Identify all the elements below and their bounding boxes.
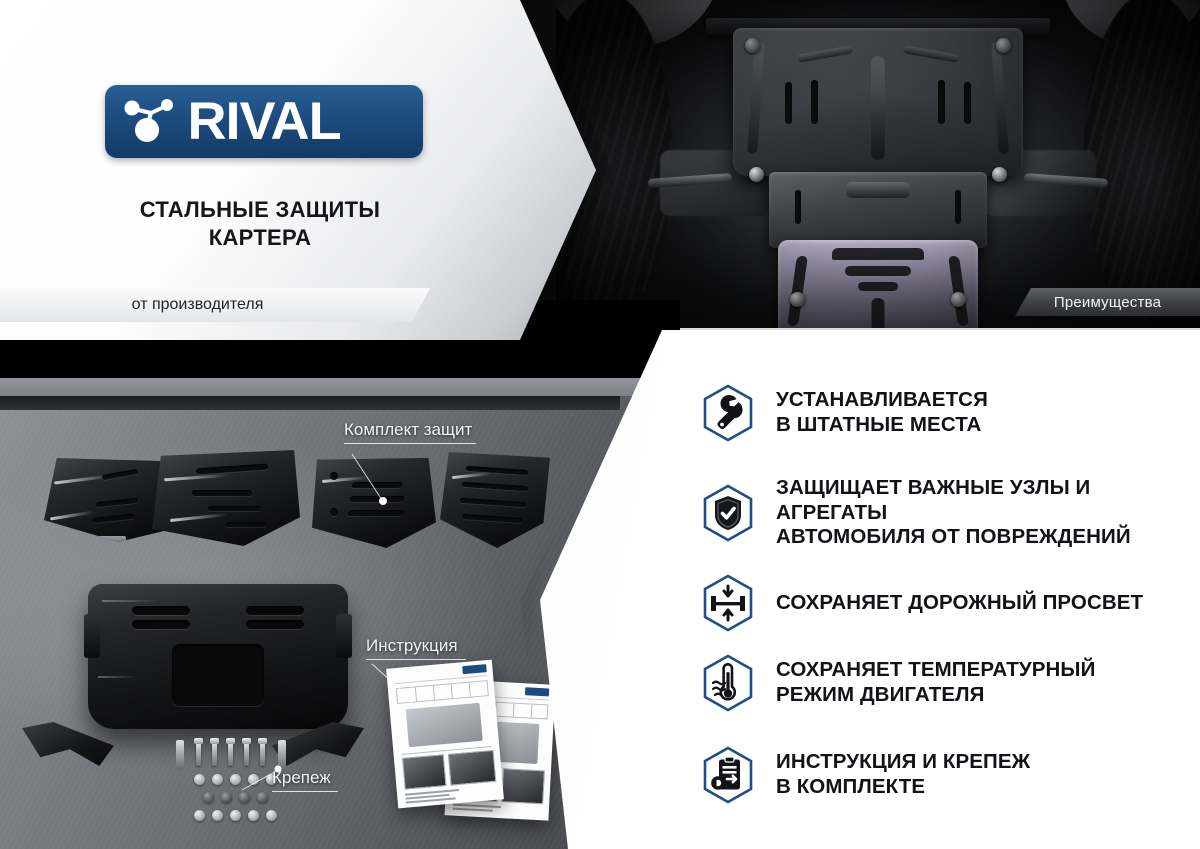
- page-title: СТАЛЬНЫЕ ЗАЩИТЫ КАРТЕРА: [0, 196, 520, 252]
- installed-rear-skid-plate: [778, 240, 978, 340]
- thermometer-icon: [702, 654, 754, 712]
- advantage-label-temperature: СОХРАНЯЕТ ТЕМПЕРАТУРНЫЙ РЕЖИМ ДВИГАТЕЛЯ: [776, 658, 1095, 707]
- advantage-label-installation: УСТАНАВЛИВАЕТСЯ В ШТАТНЫЕ МЕСТА: [776, 388, 988, 437]
- kit-callout-label: Комплект защит: [344, 420, 472, 439]
- kit-callout: Комплект защит: [344, 420, 476, 444]
- rival-logo-text: RIVAL: [187, 95, 340, 148]
- hardware-callout: Крепеж: [272, 768, 338, 792]
- clearance-icon: [702, 574, 754, 632]
- subtitle-bar: от производителя: [0, 288, 430, 322]
- shield-check-icon: [702, 484, 754, 542]
- main-skid-plate: [88, 584, 348, 729]
- advantage-item-protection: ЗАЩИЩАЕТ ВАЖНЫЕ УЗЛЫ И АГРЕГАТЫ АВТОМОБИ…: [702, 476, 1200, 550]
- installed-transmission-skid-plate: [769, 172, 987, 248]
- rival-logo: RIVAL: [105, 85, 423, 158]
- clipboard-bolt-icon: [702, 746, 754, 804]
- advantage-item-installation: УСТАНАВЛИВАЕТСЯ В ШТАТНЫЕ МЕСТА: [702, 384, 988, 442]
- advantages-tab: Преимущества: [1015, 288, 1200, 316]
- dark-wedge: [0, 330, 620, 410]
- molecule-icon: [121, 96, 177, 148]
- advantage-label-kit: ИНСТРУКЦИЯ И КРЕПЕЖ В КОМПЛЕКТЕ: [776, 750, 1030, 799]
- advantage-item-clearance: СОХРАНЯЕТ ДОРОЖНЫЙ ПРОСВЕТ: [702, 574, 1143, 632]
- advantage-label-clearance: СОХРАНЯЕТ ДОРОЖНЫЙ ПРОСВЕТ: [776, 591, 1143, 616]
- page-title-line2: КАРТЕРА: [0, 224, 520, 252]
- page-title-line1: СТАЛЬНЫЕ ЗАЩИТЫ: [0, 196, 520, 224]
- wrench-icon: [702, 384, 754, 442]
- advantages-tab-label: Преимущества: [1054, 294, 1161, 311]
- advantage-item-kit: ИНСТРУКЦИЯ И КРЕПЕЖ В КОМПЛЕКТЕ: [702, 746, 1030, 804]
- subtitle-label: от производителя: [0, 296, 395, 314]
- instruction-callout-label: Инструкция: [366, 636, 458, 655]
- instruction-sheet-front: [386, 660, 504, 809]
- installed-engine-skid-plate: [733, 28, 1023, 176]
- advantages-list: УСТАНАВЛИВАЕТСЯ В ШТАТНЫЕ МЕСТА ЗАЩИЩАЕТ…: [540, 330, 1200, 849]
- hardware-callout-label: Крепеж: [272, 768, 331, 787]
- advantage-item-temperature: СОХРАНЯЕТ ТЕМПЕРАТУРНЫЙ РЕЖИМ ДВИГАТЕЛЯ: [702, 654, 1095, 712]
- advantage-label-protection: ЗАЩИЩАЕТ ВАЖНЫЕ УЗЛЫ И АГРЕГАТЫ АВТОМОБИ…: [776, 476, 1200, 550]
- instruction-callout: Инструкция: [366, 636, 466, 660]
- poster-canvas: Преимущества: [0, 0, 1200, 849]
